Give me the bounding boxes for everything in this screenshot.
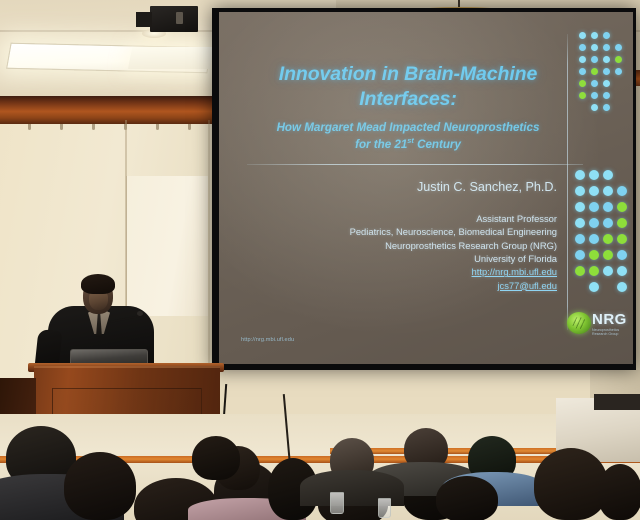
affiliation-line-2: Pediatrics, Neuroscience, Biomedical Eng… (245, 225, 557, 238)
brain-icon (567, 312, 591, 334)
audience-head (436, 476, 498, 520)
slide-subtitle: How Margaret Mead Impacted Neuroprosthet… (235, 120, 581, 153)
nrg-logo: NRG Neuroprosthetics Research Group (567, 308, 629, 342)
slide-title: Innovation in Brain-Machine Interfaces: (243, 62, 573, 112)
affiliation-line-4: University of Florida (245, 252, 557, 265)
subtitle-superscript: st (407, 136, 414, 145)
wall-panel-whiteboard (126, 176, 208, 316)
affiliation-line-1: Assistant Professor (245, 212, 557, 225)
slide-subtitle-line-1: How Margaret Mead Impacted Neuroprosthet… (235, 120, 581, 136)
projector-lens-icon (176, 12, 183, 24)
slide-website-link[interactable]: http://nrg.mbi.ufl.edu (245, 265, 557, 278)
slide-title-line-2: Interfaces: (243, 87, 573, 112)
audience-head (64, 452, 136, 520)
side-table-dark-object (594, 394, 640, 410)
slide-email-link[interactable]: jcs77@ufl.edu (245, 279, 557, 292)
affiliation-line-3: Neuroprosthetics Research Group (NRG) (245, 239, 557, 252)
slide-title-line-1: Innovation in Brain-Machine (243, 62, 573, 87)
audience-head (534, 448, 608, 520)
water-glass (378, 498, 391, 518)
subtitle-suffix: Century (414, 138, 461, 151)
nrg-logo-text: NRG (592, 311, 627, 328)
subtitle-prefix: for the 21 (355, 138, 407, 151)
slide-affiliation-block: Assistant Professor Pediatrics, Neurosci… (245, 212, 557, 292)
audience-head (192, 436, 240, 480)
water-glass (330, 492, 344, 514)
slide-dot-grid-upper (577, 32, 633, 142)
slide-subtitle-line-2: for the 21st Century (235, 136, 581, 153)
slide-horizontal-rule (247, 164, 583, 165)
slide-author-name: Justin C. Sanchez, Ph.D. (339, 180, 557, 194)
audience-head (598, 464, 640, 520)
slide-footer-url: http://nrg.mbi.ufl.edu (241, 337, 294, 343)
wood-trim-band (0, 96, 226, 124)
wall-seam-right (208, 120, 210, 370)
wall-hooks (0, 124, 226, 132)
slide-vertical-rule (567, 34, 568, 330)
ceiling-projector (150, 6, 198, 32)
lecture-hall-scene: Innovation in Brain-Machine Interfaces: … (0, 0, 640, 520)
slide-dot-grid-lower (573, 170, 633, 310)
microphone-head-icon (137, 311, 143, 316)
speaker-hair (81, 274, 115, 294)
nrg-logo-subtitle: Neuroprosthetics Research Group (592, 328, 630, 337)
fluorescent-light-panel-secondary (128, 47, 214, 69)
projection-screen: Innovation in Brain-Machine Interfaces: … (219, 12, 633, 364)
